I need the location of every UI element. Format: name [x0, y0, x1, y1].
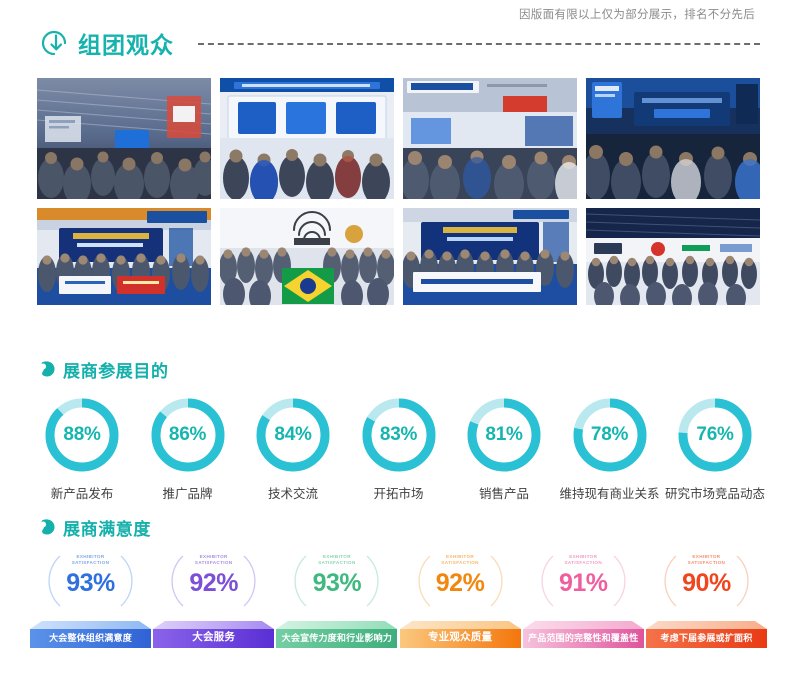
- donut-value: 81%: [465, 396, 543, 474]
- satisfaction-caption: EXHIBITOR SATISFACTION: [195, 554, 233, 566]
- satisfaction-card[interactable]: EXHIBITOR SATISFACTION 93% 大会整体组织满意度: [30, 548, 151, 648]
- donut-item: 81% 销售产品: [452, 396, 556, 502]
- donut-label: 研究市场竞品动态: [665, 483, 765, 502]
- satisfaction-label: 大会整体组织满意度: [30, 631, 151, 644]
- satisfaction-card-top: EXHIBITOR SATISFACTION 93%: [276, 548, 397, 612]
- satisfaction-percent: 93%: [66, 569, 115, 598]
- photo-gallery-grid: [37, 78, 760, 305]
- gallery-photo[interactable]: [403, 78, 577, 199]
- section-header-group-visitors: 组团观众: [37, 26, 760, 60]
- satisfaction-card-top: EXHIBITOR SATISFACTION 92%: [400, 548, 521, 612]
- satisfaction-card-row: EXHIBITOR SATISFACTION 93% 大会整体组织满意度: [30, 548, 767, 648]
- donut-chart: 86%: [149, 396, 227, 474]
- circular-arrow-icon: [37, 26, 71, 60]
- satisfaction-caption: EXHIBITOR SATISFACTION: [564, 554, 602, 566]
- donut-chart: 78%: [571, 396, 649, 474]
- satisfaction-card[interactable]: EXHIBITOR SATISFACTION 93% 大会宣传力度和行业影响力: [276, 548, 397, 648]
- donut-label: 技术交流: [268, 483, 318, 502]
- satisfaction-percent: 90%: [682, 569, 731, 598]
- donut-chart: 83%: [360, 396, 438, 474]
- donut-value: 78%: [571, 396, 649, 474]
- donut-item: 84% 技术交流: [241, 396, 345, 502]
- satisfaction-card-top: EXHIBITOR SATISFACTION 93%: [30, 548, 151, 612]
- section-header-exhibitor-purpose: 展商参展目的: [37, 357, 169, 382]
- satisfaction-card[interactable]: EXHIBITOR SATISFACTION 92% 专业观众质量: [400, 548, 521, 648]
- satisfaction-label: 产品范围的完整性和覆盖性: [523, 631, 644, 644]
- bean-icon: [37, 518, 56, 537]
- satisfaction-card-top: EXHIBITOR SATISFACTION 90%: [646, 548, 767, 612]
- donut-label: 开拓市场: [373, 483, 423, 502]
- donut-chart: 81%: [465, 396, 543, 474]
- gallery-photo[interactable]: [37, 78, 211, 199]
- satisfaction-label: 考虑下届参展或扩面积: [646, 631, 767, 644]
- page-title: 组团观众: [78, 26, 174, 60]
- satisfaction-caption: EXHIBITOR SATISFACTION: [441, 554, 479, 566]
- satisfaction-card[interactable]: EXHIBITOR SATISFACTION 92% 大会服务: [153, 548, 274, 648]
- satisfaction-percent: 92%: [436, 569, 485, 598]
- gallery-photo[interactable]: [220, 78, 394, 199]
- donut-value: 86%: [149, 396, 227, 474]
- disclaimer-text: 因版面有限以上仅为部分展示，排名不分先后: [519, 6, 755, 22]
- satisfaction-caption: EXHIBITOR SATISFACTION: [318, 554, 356, 566]
- donut-value: 76%: [676, 396, 754, 474]
- donut-chart: 84%: [254, 396, 332, 474]
- donut-chart: 76%: [676, 396, 754, 474]
- gallery-photo[interactable]: [586, 208, 760, 305]
- purpose-section-title: 展商参展目的: [63, 357, 169, 382]
- donut-item: 76% 研究市场竞品动态: [663, 396, 767, 502]
- satisfaction-label: 大会宣传力度和行业影响力: [276, 631, 397, 644]
- satisfaction-percent: 92%: [189, 569, 238, 598]
- donut-value: 84%: [254, 396, 332, 474]
- donut-item: 86% 推广品牌: [136, 396, 240, 502]
- donut-label: 维持现有商业关系: [559, 483, 659, 502]
- donut-value: 88%: [43, 396, 121, 474]
- donut-item: 88% 新产品发布: [30, 396, 134, 502]
- satisfaction-caption: EXHIBITOR SATISFACTION: [72, 554, 110, 566]
- satisfaction-caption: EXHIBITOR SATISFACTION: [688, 554, 726, 566]
- header-dashed-divider: [198, 43, 760, 45]
- satisfaction-label: 大会服务: [153, 629, 274, 644]
- gallery-photo[interactable]: [403, 208, 577, 305]
- gallery-photo[interactable]: [220, 208, 394, 305]
- gallery-photo[interactable]: [586, 78, 760, 199]
- satisfaction-label: 专业观众质量: [400, 629, 521, 644]
- satisfaction-percent: 91%: [559, 569, 608, 598]
- donut-chart: 88%: [43, 396, 121, 474]
- satisfaction-section-title: 展商满意度: [63, 515, 151, 540]
- gallery-photo[interactable]: [37, 208, 211, 305]
- section-header-exhibitor-satisfaction: 展商满意度: [37, 515, 151, 540]
- satisfaction-card[interactable]: EXHIBITOR SATISFACTION 90% 考虑下届参展或扩面积: [646, 548, 767, 648]
- donut-value: 83%: [360, 396, 438, 474]
- satisfaction-card-top: EXHIBITOR SATISFACTION 91%: [523, 548, 644, 612]
- purpose-donut-chart-row: 88% 新产品发布 86% 推广品牌 84% 技术交流: [30, 396, 767, 502]
- donut-label: 销售产品: [479, 483, 529, 502]
- donut-item: 78% 维持现有商业关系: [558, 396, 662, 502]
- satisfaction-card[interactable]: EXHIBITOR SATISFACTION 91% 产品范围的完整性和覆盖性: [523, 548, 644, 648]
- satisfaction-card-top: EXHIBITOR SATISFACTION 92%: [153, 548, 274, 612]
- donut-item: 83% 开拓市场: [347, 396, 451, 502]
- satisfaction-percent: 93%: [313, 569, 362, 598]
- donut-label: 新产品发布: [51, 483, 114, 502]
- donut-label: 推广品牌: [162, 483, 212, 502]
- bean-icon: [37, 360, 56, 379]
